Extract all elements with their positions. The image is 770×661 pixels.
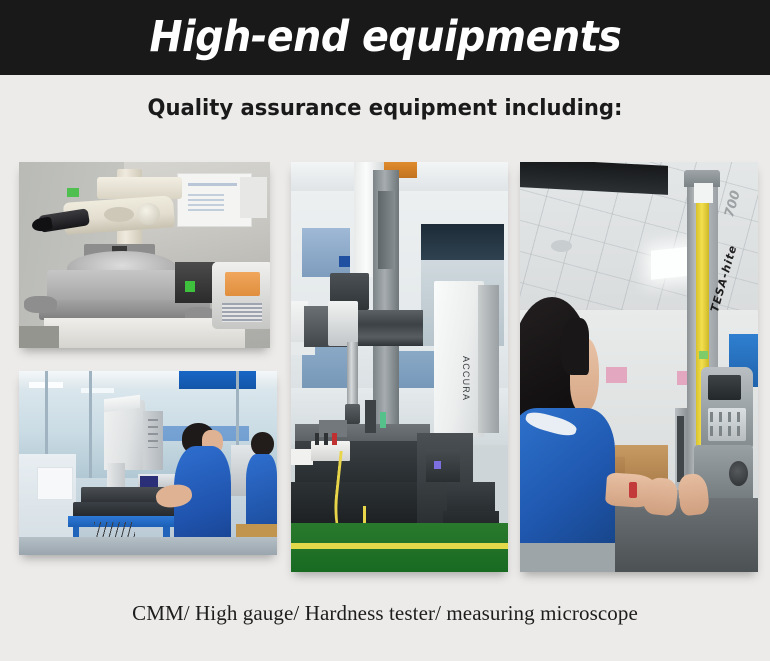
- photo-tesa-height-gauge-operator: 700 TESA-hite: [520, 162, 758, 572]
- readout-monitor-screen: [225, 272, 260, 296]
- glass-mullion-2: [89, 371, 93, 478]
- window-left: [302, 228, 350, 277]
- height-gauge-brand-plate: [694, 183, 713, 204]
- wall-notice-sheet: [37, 467, 73, 500]
- cmm-brand-label: ACCURA: [461, 356, 471, 401]
- cmm-enclosure-side: [478, 285, 500, 433]
- window-right-dark: [421, 224, 503, 261]
- vision-machine-optics-column: [107, 463, 125, 489]
- microscope-arm-detail: [104, 207, 134, 222]
- floor-marking-line: [291, 543, 508, 549]
- ceiling-light-2: [81, 388, 115, 394]
- side-equipment-box: [175, 262, 215, 303]
- calibration-sticker: [699, 351, 709, 359]
- cmm-carriage: [328, 301, 358, 346]
- microscope-focus-knob: [137, 203, 160, 225]
- room-floor: [520, 543, 615, 572]
- photo-measuring-microscope: [19, 162, 270, 348]
- wall-document-secondary: [240, 177, 268, 218]
- emergency-stop-button: [332, 433, 336, 445]
- equipment-list-caption: CMM/ High gauge/ Hardness tester/ measur…: [0, 601, 770, 626]
- vision-machine-vents: [148, 419, 158, 448]
- workpiece: [365, 400, 376, 433]
- cmm-probe-head: [345, 404, 360, 425]
- readout-monitor-keypad: [222, 303, 262, 322]
- keypad-row-1: [710, 412, 741, 422]
- second-operator-torso: [246, 454, 277, 528]
- page-title: High-end equipments: [149, 16, 621, 59]
- structural-pillar-shadow: [378, 191, 395, 269]
- operator-hand-left: [642, 476, 679, 516]
- header-banner: High-end equipments: [0, 0, 770, 75]
- photo-vision-measuring-operator: [19, 371, 277, 555]
- operator-bracelet: [629, 482, 636, 498]
- zeiss-logo: [339, 256, 350, 266]
- stage-handwheel-left: [24, 296, 57, 313]
- pink-wall-label-1: [606, 367, 627, 383]
- height-gauge-display: [708, 375, 741, 400]
- paper-on-table: [291, 449, 313, 465]
- section-subtitle: Quality assurance equipment including:: [15, 96, 754, 121]
- microscope-head: [97, 177, 182, 199]
- pendant-joystick-left: [315, 433, 319, 445]
- vision-machine-screen: [140, 476, 158, 487]
- workpiece-marker: [380, 412, 387, 428]
- second-operator-hair: [251, 432, 274, 456]
- blue-wall-banner: [179, 371, 256, 389]
- power-indicator: [185, 281, 195, 292]
- height-gauge-probe-arm: [677, 416, 684, 482]
- workshop-floor: [19, 537, 277, 555]
- keypad-row-2: [710, 426, 741, 436]
- pendant-joystick-right: [324, 433, 328, 445]
- lab-floor: [19, 326, 59, 348]
- photo-cmm-accura: ACCURA: [291, 162, 508, 572]
- cmm-controller-box: [426, 449, 461, 482]
- calibration-sticker: [67, 188, 80, 197]
- controller-indicator: [434, 461, 441, 469]
- operator-hair-front: [560, 318, 589, 375]
